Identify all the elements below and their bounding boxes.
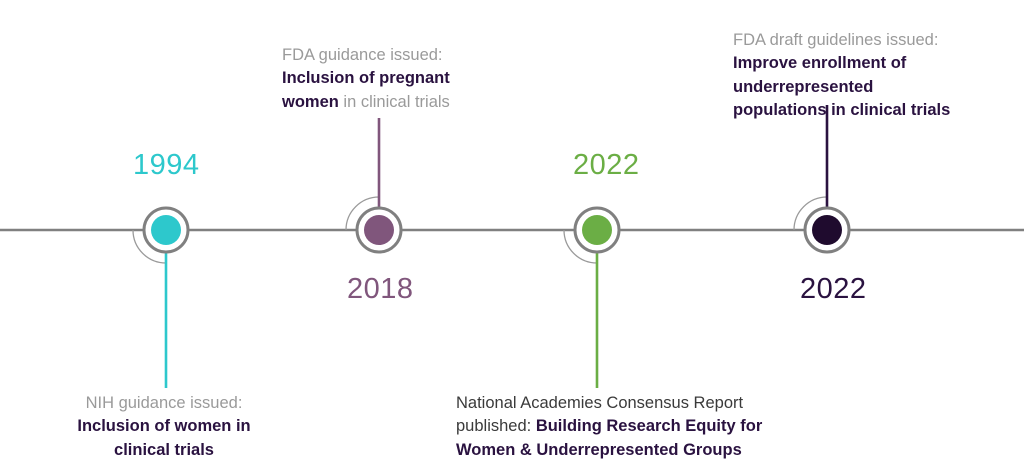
timeline-event-nih-1994[interactable] <box>133 208 188 388</box>
annotation-nasem-line1: National Academies Consensus Report <box>456 394 743 412</box>
timeline-event-nasem-2022[interactable] <box>564 208 619 388</box>
annotation-nih-line2: Inclusion of women in <box>77 417 250 435</box>
annotation-fda-pregnant-line3-bold: women <box>282 93 339 111</box>
annotation-nasem-line2-plain: published: <box>456 417 536 435</box>
annotation-fda-draft-line4: populations in clinical trials <box>733 101 950 119</box>
annotation-fda-draft-line2: Improve enrollment of <box>733 54 906 72</box>
annotation-fda-pregnant-line2: Inclusion of pregnant <box>282 69 450 87</box>
annotation-nih-line1: NIH guidance issued: <box>86 394 243 412</box>
annotation-fda-draft-line3: underrepresented <box>733 78 873 96</box>
year-label-2018: 2018 <box>347 275 414 304</box>
year-label-2022-dark: 2022 <box>800 275 867 304</box>
year-label-1994: 1994 <box>133 151 200 180</box>
marker-dot-fda-draft-2022[interactable] <box>812 215 842 245</box>
annotation-nasem-line2-bold: Building Research Equity for <box>536 417 762 435</box>
annotation-fda-draft-2022: FDA draft guidelines issued: Improve enr… <box>733 29 973 123</box>
annotation-nasem-line3: Women & Underrepresented Groups <box>456 441 742 459</box>
timeline-infographic: 1994 2018 2022 2022 NIH guidance issued:… <box>0 0 1024 469</box>
marker-dot-nasem-2022[interactable] <box>582 215 612 245</box>
annotation-nasem-2022: National Academies Consensus Report publ… <box>456 392 786 462</box>
annotation-fda-draft-line1: FDA draft guidelines issued: <box>733 31 938 49</box>
annotation-nih-1994: NIH guidance issued: Inclusion of women … <box>44 392 284 462</box>
annotation-fda-pregnant-line1: FDA guidance issued: <box>282 46 443 64</box>
annotation-fda-pregnant-2018: FDA guidance issued: Inclusion of pregna… <box>282 44 482 114</box>
timeline-event-fda-pregnant-2018[interactable] <box>346 118 401 252</box>
annotation-nih-line3: clinical trials <box>114 441 214 459</box>
marker-dot-fda-pregnant-2018[interactable] <box>364 215 394 245</box>
year-label-2022-green: 2022 <box>573 151 640 180</box>
marker-dot-nih-1994[interactable] <box>151 215 181 245</box>
annotation-fda-pregnant-line3-rest: in clinical trials <box>339 93 450 111</box>
